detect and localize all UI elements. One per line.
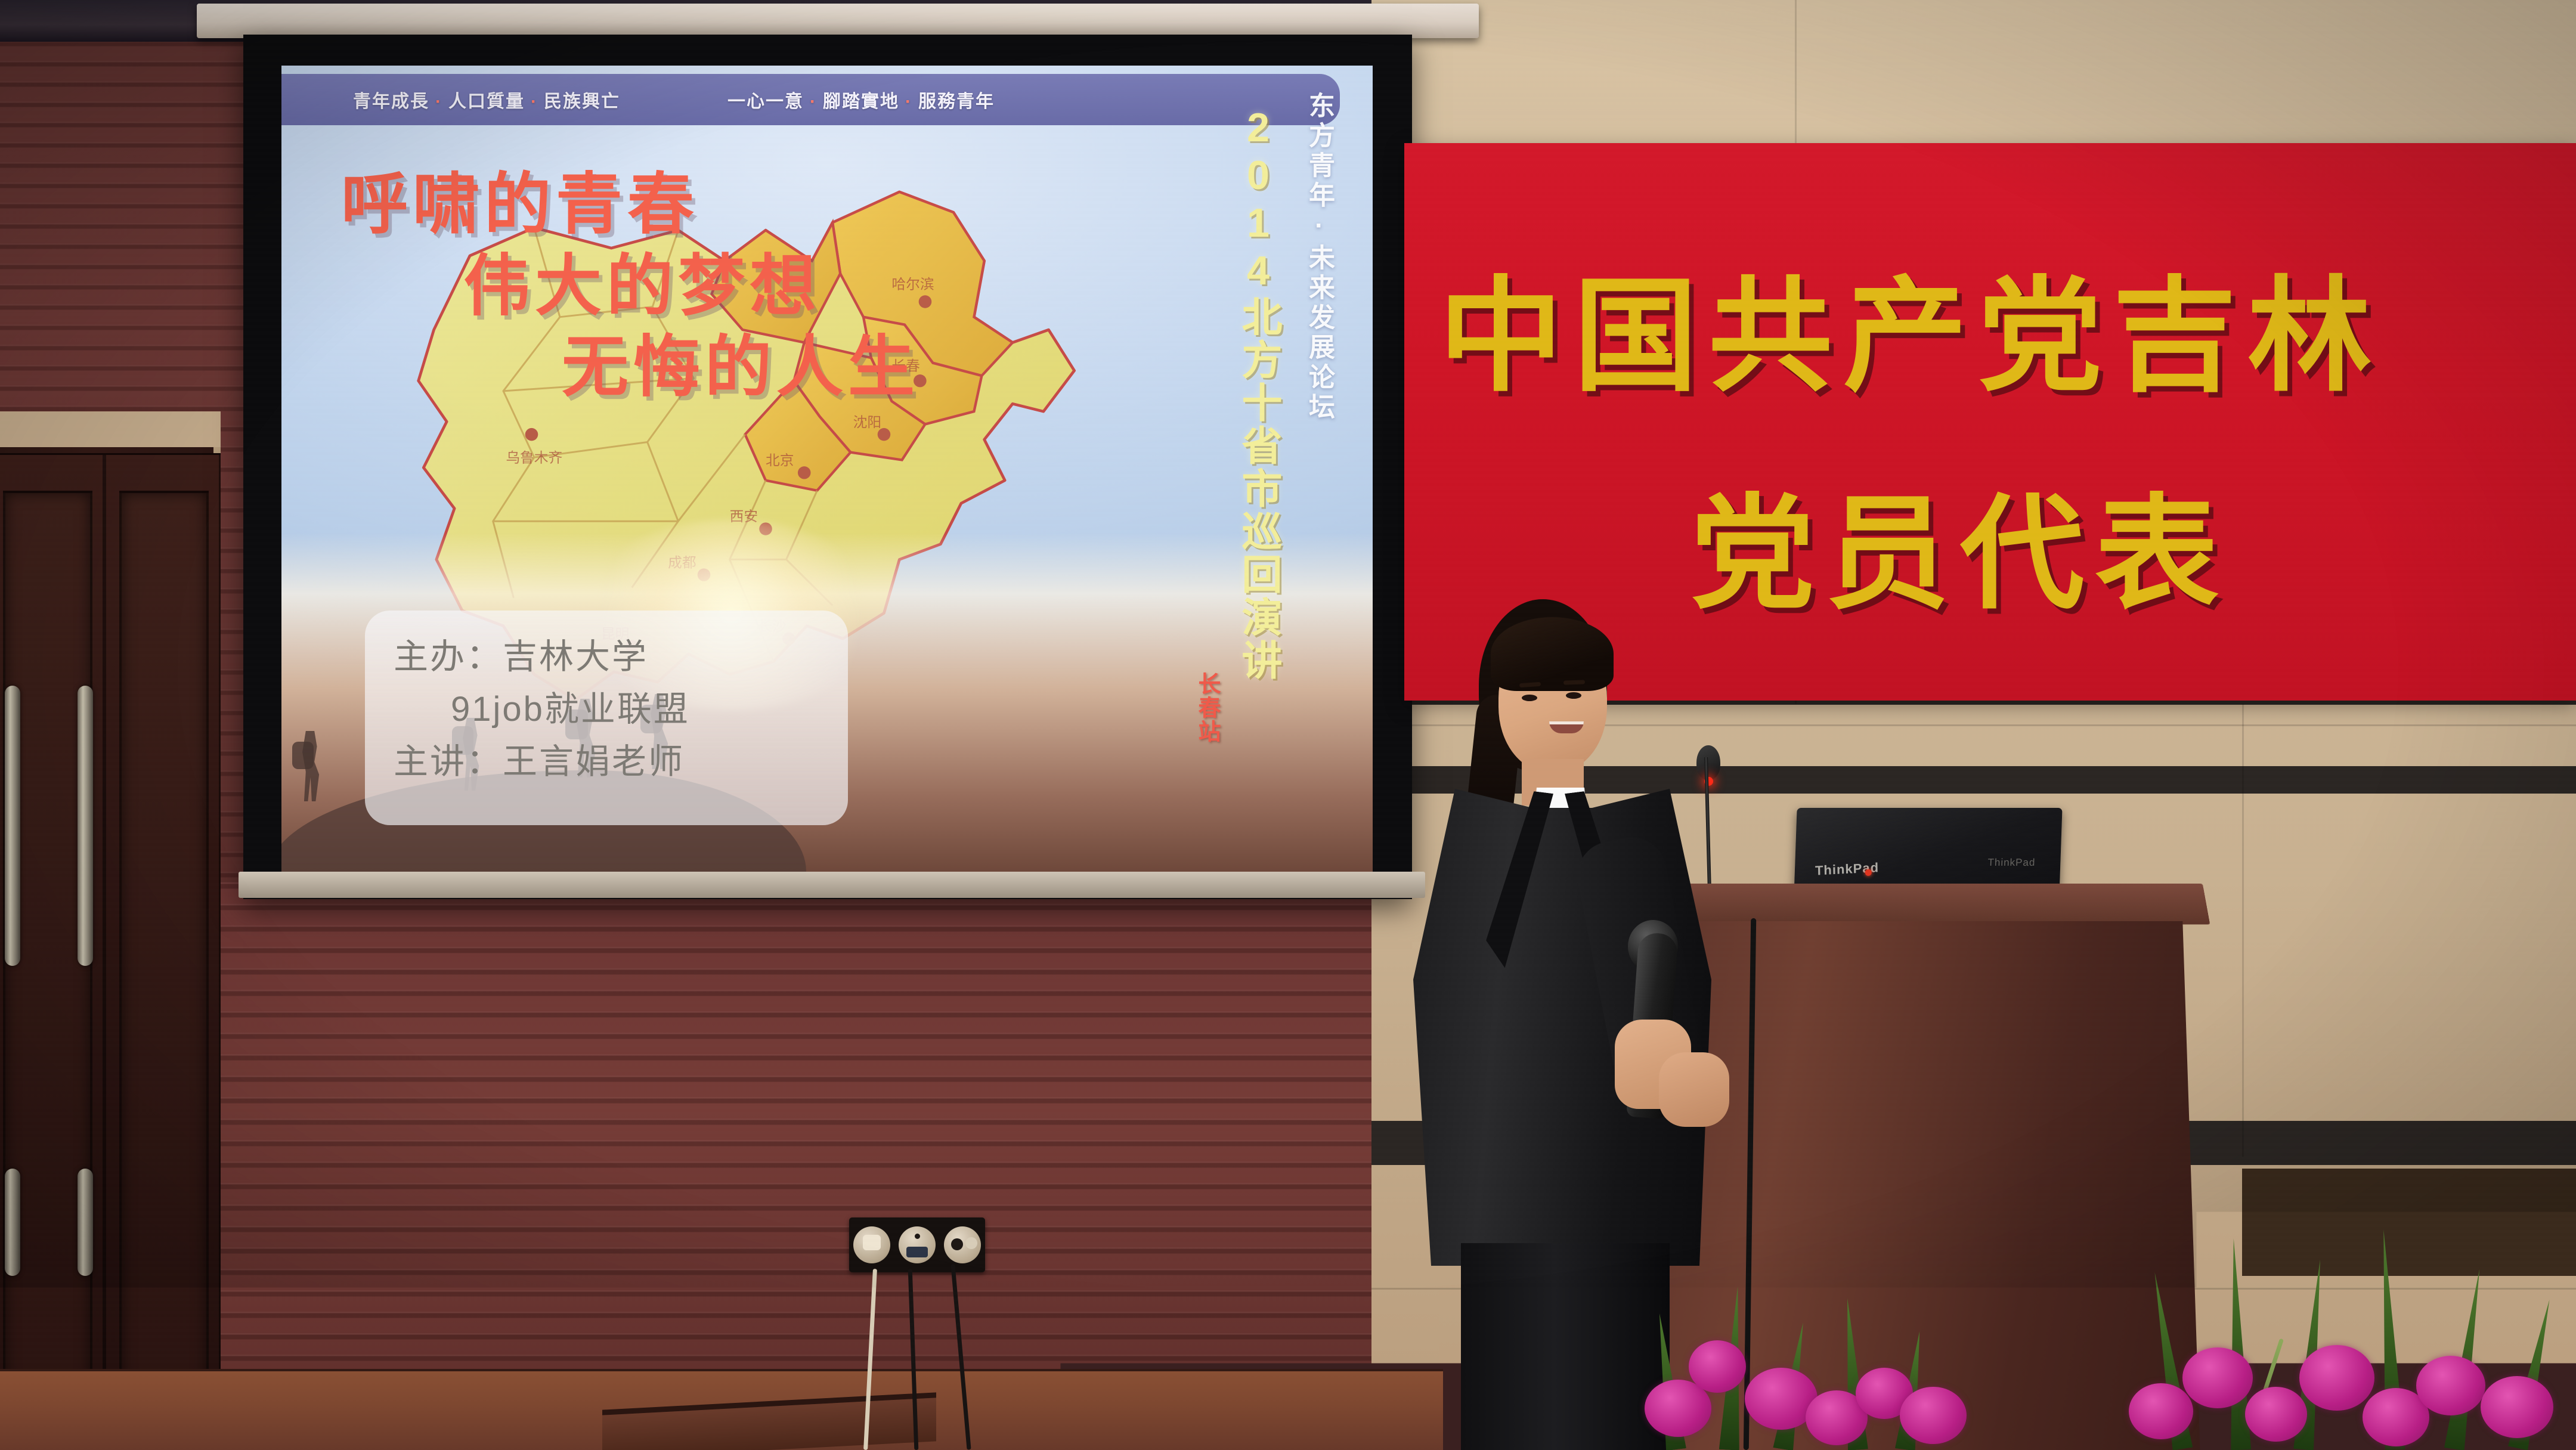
- laptop-secondary-label: ThinkPad: [1987, 857, 2036, 869]
- banner-dot: ·: [810, 92, 817, 111]
- slide-banner-right-group: 一心一意·腳踏實地·服務青年: [727, 86, 995, 113]
- svg-text:沈阳: 沈阳: [853, 414, 881, 430]
- slide-title-line-2: 伟大的梦想: [323, 246, 1075, 327]
- door-handle-right[interactable]: [78, 686, 93, 966]
- door-right[interactable]: [104, 453, 221, 1450]
- slide-title-line-3: 无悔的人生: [323, 327, 1075, 408]
- projector-screen-bottom-bar: [239, 872, 1425, 898]
- svg-text:北京: 北京: [766, 453, 794, 469]
- projection-screen: 乌鲁木齐 哈尔滨 长春 沈阳 北京 西安 成都 长沙 昆明: [243, 35, 1412, 899]
- speaker-eye-left: [1522, 695, 1537, 701]
- red-banner-line-2: 党员代表: [1690, 453, 2230, 633]
- slide-banner-right-3: 服務青年: [918, 92, 995, 111]
- speaker-trousers: [1461, 1243, 1670, 1450]
- banner-dot: ·: [905, 92, 912, 111]
- door-handle-left[interactable]: [5, 686, 20, 966]
- door-header-trim: [0, 411, 221, 447]
- beige-wall-vseam-2: [2242, 704, 2244, 1157]
- hiker-backpack: [292, 742, 314, 769]
- floor-outlet-panel[interactable]: [849, 1217, 985, 1272]
- slide-banner-right-2: 腳踏實地: [823, 92, 899, 111]
- slide-city-vertical-text: 长春站: [1191, 672, 1224, 743]
- slide-info-box: 主办：吉林大学 91job就业联盟 主讲：王言娟老师: [365, 611, 848, 825]
- slide-organizer-line: 主办：吉林大学: [394, 631, 819, 683]
- speaker-eye-right: [1566, 692, 1581, 699]
- door-handle-left-lower[interactable]: [5, 1169, 20, 1276]
- slide-speaker-line: 主讲：王言娟老师: [394, 736, 819, 788]
- slide-title: 呼啸的青春 伟大的梦想 无悔的人生: [323, 164, 1075, 408]
- slide-banner-right-1: 一心一意: [727, 92, 804, 111]
- speaker-hair-top: [1491, 617, 1614, 691]
- outlet-port-3[interactable]: [944, 1226, 981, 1263]
- door-panel-right: [119, 491, 209, 1421]
- banner-dot: ·: [435, 92, 442, 111]
- banner-dot: ·: [531, 92, 538, 111]
- slide-title-line-1: 呼啸的青春: [323, 164, 1075, 246]
- slide-banner-left-2: 人口質量: [448, 92, 525, 111]
- door-handle-right-lower[interactable]: [78, 1169, 93, 1276]
- speaker: [1389, 599, 1723, 1450]
- red-banner-line-1: 中国共产党吉林: [1439, 236, 2382, 415]
- outlet-port-2[interactable]: [899, 1226, 936, 1263]
- scene-root: 乌鲁木齐 哈尔滨 长春 沈阳 北京 西安 成都 长沙 昆明: [0, 0, 2576, 1450]
- slide-tour-vertical-text: 2014北方十省市巡回演讲: [1229, 105, 1288, 682]
- svg-text:乌鲁木齐: 乌鲁木齐: [506, 450, 562, 466]
- slide-forum-vertical-text: 东方青年·未来发展论坛: [1300, 92, 1338, 423]
- projector-screen-housing: [197, 4, 1479, 38]
- speaker-eyebrow-right: [1563, 680, 1585, 684]
- beige-wall-dark-bar: [2242, 1169, 2576, 1276]
- presentation-slide: 乌鲁木齐 哈尔滨 长春 沈阳 北京 西安 成都 长沙 昆明: [281, 66, 1373, 872]
- slide-top-banner: 青年成長·人口質量·民族興亡 一心一意·腳踏實地·服務青年: [281, 74, 1340, 125]
- outlet-port-1[interactable]: [853, 1226, 890, 1263]
- slide-banner-left-3: 民族興亡: [544, 92, 620, 111]
- speaker-hand-left: [1659, 1052, 1729, 1127]
- slide-banner-left-group: 青年成長·人口質量·民族興亡: [353, 86, 620, 113]
- slide-banner-left-1: 青年成長: [353, 92, 429, 111]
- slide-alliance-line: 91job就业联盟: [394, 683, 819, 736]
